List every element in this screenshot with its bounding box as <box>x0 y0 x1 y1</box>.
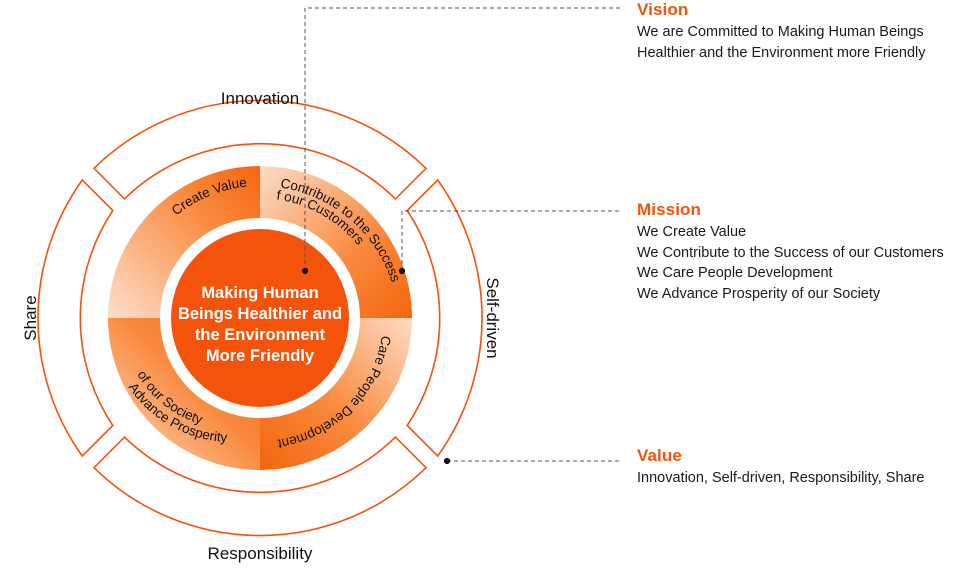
outer-segment-self-driven[interactable] <box>407 180 482 456</box>
outer-label-self-driven: Self-driven <box>483 277 502 358</box>
callout-value-title: Value <box>637 446 924 466</box>
outer-label-responsibility: Responsibility <box>208 544 313 563</box>
center-line-2: Beings Healthier and <box>178 305 342 323</box>
vision-mission-value-diagram: Making Human Beings Healthier and the En… <box>0 0 960 583</box>
center-line-1: Making Human <box>201 284 318 302</box>
outer-label-share: Share <box>21 295 40 340</box>
callout-vision-title: Vision <box>637 0 926 20</box>
center-line-3: the Environment <box>195 326 326 344</box>
outer-segment-share[interactable] <box>38 180 113 456</box>
center-line-4: More Friendly <box>206 347 315 365</box>
callout-mission-line: We Create Value <box>637 222 944 243</box>
callout-value-line: Innovation, Self-driven, Responsibility,… <box>637 468 924 489</box>
callout-mission-title: Mission <box>637 200 944 220</box>
callout-vision-line: Healthier and the Environment more Frien… <box>637 43 926 64</box>
callout-vision: Vision We are Committed to Making Human … <box>637 0 926 63</box>
leader-line-mission <box>402 211 622 271</box>
callout-mission-line: We Advance Prosperity of our Society <box>637 284 944 305</box>
callout-mission-line: We Contribute to the Success of our Cust… <box>637 243 944 264</box>
leader-dot-vision <box>302 268 308 274</box>
callout-vision-line: We are Committed to Making Human Beings <box>637 22 926 43</box>
callout-mission: Mission We Create Value We Contribute to… <box>637 200 944 304</box>
leader-dot-value <box>444 458 450 464</box>
callout-mission-line: We Care People Development <box>637 263 944 284</box>
callout-value: Value Innovation, Self-driven, Responsib… <box>637 446 924 489</box>
outer-label-innovation: Innovation <box>221 89 299 108</box>
leader-dot-mission <box>399 268 405 274</box>
